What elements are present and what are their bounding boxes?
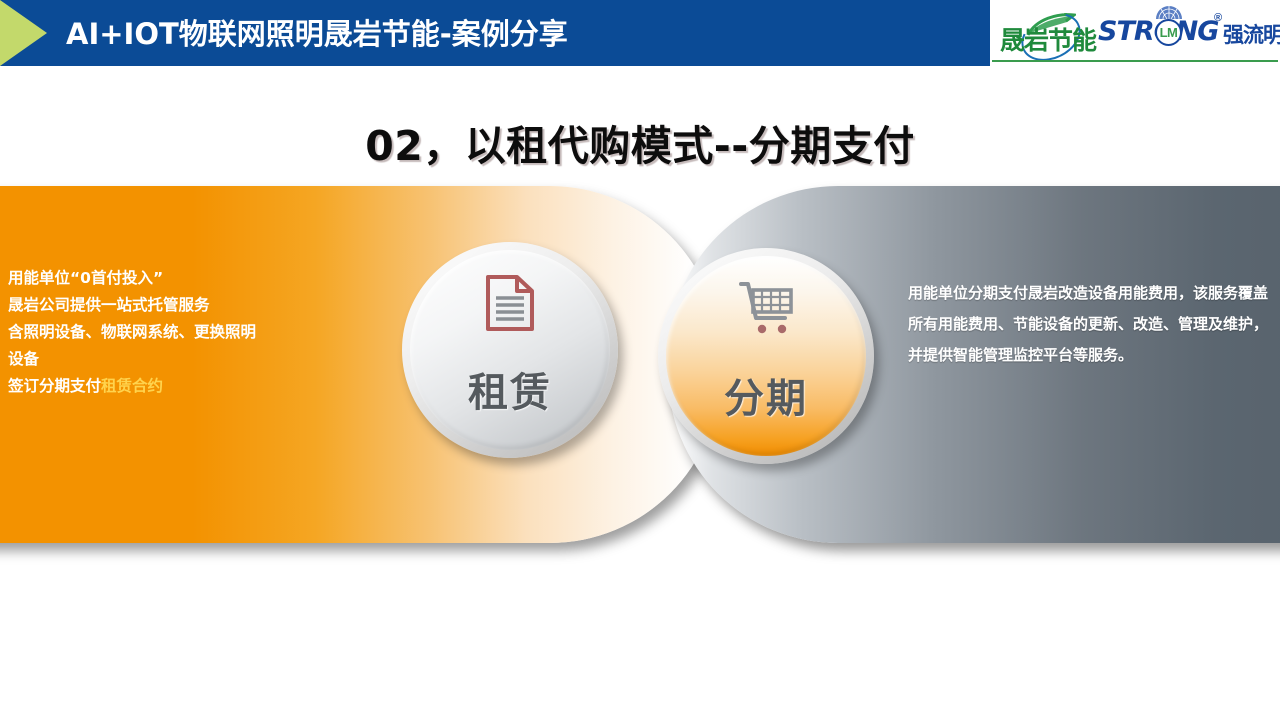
logo-registered-mark: ® (1214, 12, 1222, 24)
leasing-line: 签订分期支付租赁合约 (8, 373, 338, 400)
leasing-highlight: 租赁合约 (101, 377, 163, 395)
logo-brand-sub-cn: 强流明照明 (1223, 19, 1280, 49)
badge-installment[interactable]: 分期 (658, 248, 874, 464)
leasing-description: 用能单位“0首付投入” 晟岩公司提供一站式托管服务 含照明设备、物联网系统、更换… (8, 265, 338, 400)
header-arrow-icon (0, 0, 47, 66)
logo-brand-cn: 晟岩节能 (1000, 21, 1096, 57)
brand-logo: 晟岩节能 STRONG LM ® 强流明照明 (990, 0, 1280, 66)
badge-leasing[interactable]: 租赁 (402, 242, 618, 458)
leasing-line: 设备 (8, 346, 338, 373)
leasing-line: 用能单位“0首付投入” (8, 265, 338, 292)
badge-label: 分期 (658, 366, 874, 424)
leasing-line: 晟岩公司提供一站式托管服务 (8, 292, 338, 319)
installment-description: 用能单位分期支付晟岩改造设备用能费用，该服务覆盖所有用能费用、节能设备的更新、改… (908, 278, 1270, 371)
shengyan-mark: 晟岩节能 (1000, 14, 1096, 54)
page-title: 02，以租代购模式--分期支付 (0, 112, 1280, 172)
shopping-cart-icon (658, 280, 874, 336)
leasing-line: 含照明设备、物联网系统、更换照明 (8, 319, 338, 346)
badge-label: 租赁 (402, 360, 618, 418)
header-title: AI+IOT物联网照明晟岩节能-案例分享 (66, 11, 568, 53)
page-header: AI+IOT物联网照明晟岩节能-案例分享 晟岩节能 STRONG LM ® 强流… (0, 0, 1280, 66)
logo-underline (992, 60, 1278, 62)
document-icon (402, 274, 618, 332)
logo-lm-badge: LM (1155, 19, 1182, 46)
